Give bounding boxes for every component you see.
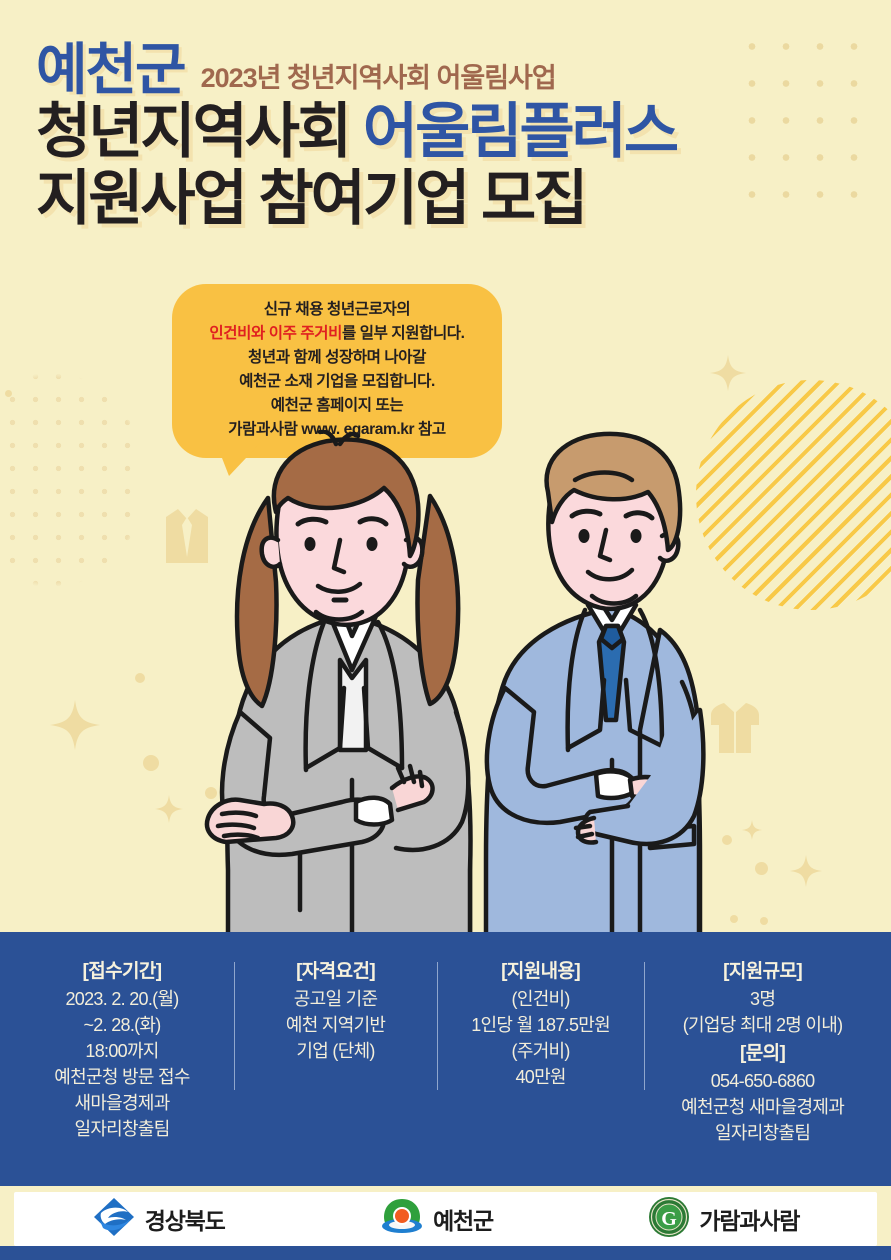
- yecheon-county-logo-icon: [380, 1196, 424, 1243]
- footer-bottom-strip: [0, 1246, 891, 1260]
- program-year-subtitle: 2023년 청년지역사회 어울림사업: [201, 65, 556, 98]
- bubble-line-5: 예천군 홈페이지 또는: [190, 394, 484, 418]
- logo-garam: G 가람과사람: [648, 1196, 799, 1243]
- info-line: 예천군청 방문 접수: [10, 1064, 234, 1090]
- bubble-line-2: 인건비와 이주 주거비를 일부 지원합니다.: [190, 322, 484, 346]
- info-columns: [접수기간] 2023. 2. 20.(월) ~2. 28.(화) 18:00까…: [0, 932, 891, 1186]
- info-line: 18:00까지: [10, 1038, 234, 1064]
- info-line: 예천군청 새마을경제과: [644, 1094, 881, 1120]
- title-line-2: 청년지역사회 어울림플러스: [36, 98, 871, 165]
- info-line: 40만원: [437, 1064, 644, 1090]
- garam-people-logo-icon: G: [648, 1196, 690, 1243]
- info-line: (인건비): [437, 986, 644, 1012]
- info-phone-number[interactable]: 054-650-6860: [644, 1068, 881, 1094]
- info-heading: [지원규모]: [644, 956, 881, 983]
- logo-yecheon: 예천군: [380, 1196, 493, 1243]
- info-line: 3명: [644, 986, 881, 1012]
- bubble-line-1: 신규 채용 청년근로자의: [190, 298, 484, 322]
- info-heading-contact: [문의]: [644, 1038, 881, 1065]
- info-panel: [접수기간] 2023. 2. 20.(월) ~2. 28.(화) 18:00까…: [0, 932, 891, 1186]
- poster-root: 예천군 2023년 청년지역사회 어울림사업 청년지역사회 어울림플러스 지원사…: [0, 0, 891, 1260]
- info-line: 2023. 2. 20.(월): [10, 986, 234, 1012]
- poster-title-block: 예천군 2023년 청년지역사회 어울림사업 청년지역사회 어울림플러스 지원사…: [36, 36, 871, 232]
- info-line: 1인당 월 187.5만원: [437, 1012, 644, 1038]
- bubble-line-3: 청년과 함께 성장하며 나아갈: [190, 346, 484, 370]
- svg-text:G: G: [662, 1208, 678, 1230]
- info-column-support-scale: [지원규모] 3명 (기업당 최대 2명 이내) [문의] 054-650-68…: [644, 956, 881, 1176]
- info-column-application-period: [접수기간] 2023. 2. 20.(월) ~2. 28.(화) 18:00까…: [10, 956, 234, 1176]
- info-column-eligibility: [자격요건] 공고일 기준 예천 지역기반 기업 (단체): [234, 956, 437, 1176]
- bubble-highlight: 인건비와 이주 주거비: [209, 325, 342, 342]
- bubble-line-4: 예천군 소재 기업을 모집합니다.: [190, 370, 484, 394]
- info-line: 일자리창출팀: [10, 1116, 234, 1142]
- info-line: 공고일 기준: [234, 986, 437, 1012]
- logo-label: 경상북도: [145, 1202, 225, 1236]
- dot-decoration-icon: [5, 390, 12, 397]
- info-heading: [접수기간]: [10, 956, 234, 983]
- info-line: 새마을경제과: [10, 1090, 234, 1116]
- info-line: 예천 지역기반: [234, 1012, 437, 1038]
- title-line2-blue: 어울림플러스: [363, 98, 676, 165]
- logo-gyeongbuk: 경상북도: [92, 1196, 225, 1243]
- info-heading: [지원내용]: [437, 956, 644, 983]
- info-heading: [자격요건]: [234, 956, 437, 983]
- org-name: 예천군: [36, 42, 185, 98]
- business-people-illustration: [0, 430, 891, 940]
- logo-label: 가람과사람: [699, 1202, 799, 1236]
- gyeongbuk-province-logo-icon: [92, 1196, 136, 1243]
- info-line: (기업당 최대 2명 이내): [644, 1012, 881, 1038]
- info-line: (주거비): [437, 1038, 644, 1064]
- logo-label: 예천군: [433, 1202, 493, 1236]
- info-line: 일자리창출팀: [644, 1120, 881, 1146]
- info-column-support-details: [지원내용] (인건비) 1인당 월 187.5만원 (주거비) 40만원: [437, 956, 644, 1176]
- sparkle-icon: [710, 355, 746, 391]
- info-line: 기업 (단체): [234, 1038, 437, 1064]
- bubble-line2-rest: 를 일부 지원합니다.: [342, 325, 465, 342]
- info-line: ~2. 28.(화): [10, 1012, 234, 1038]
- title-line-1: 예천군 2023년 청년지역사회 어울림사업: [36, 36, 871, 98]
- footer-logo-bar: 경상북도 예천군 G: [14, 1192, 877, 1246]
- title-line-3: 지원사업 참여기업 모집: [36, 165, 871, 232]
- title-line2-dark: 청년지역사회: [36, 98, 349, 165]
